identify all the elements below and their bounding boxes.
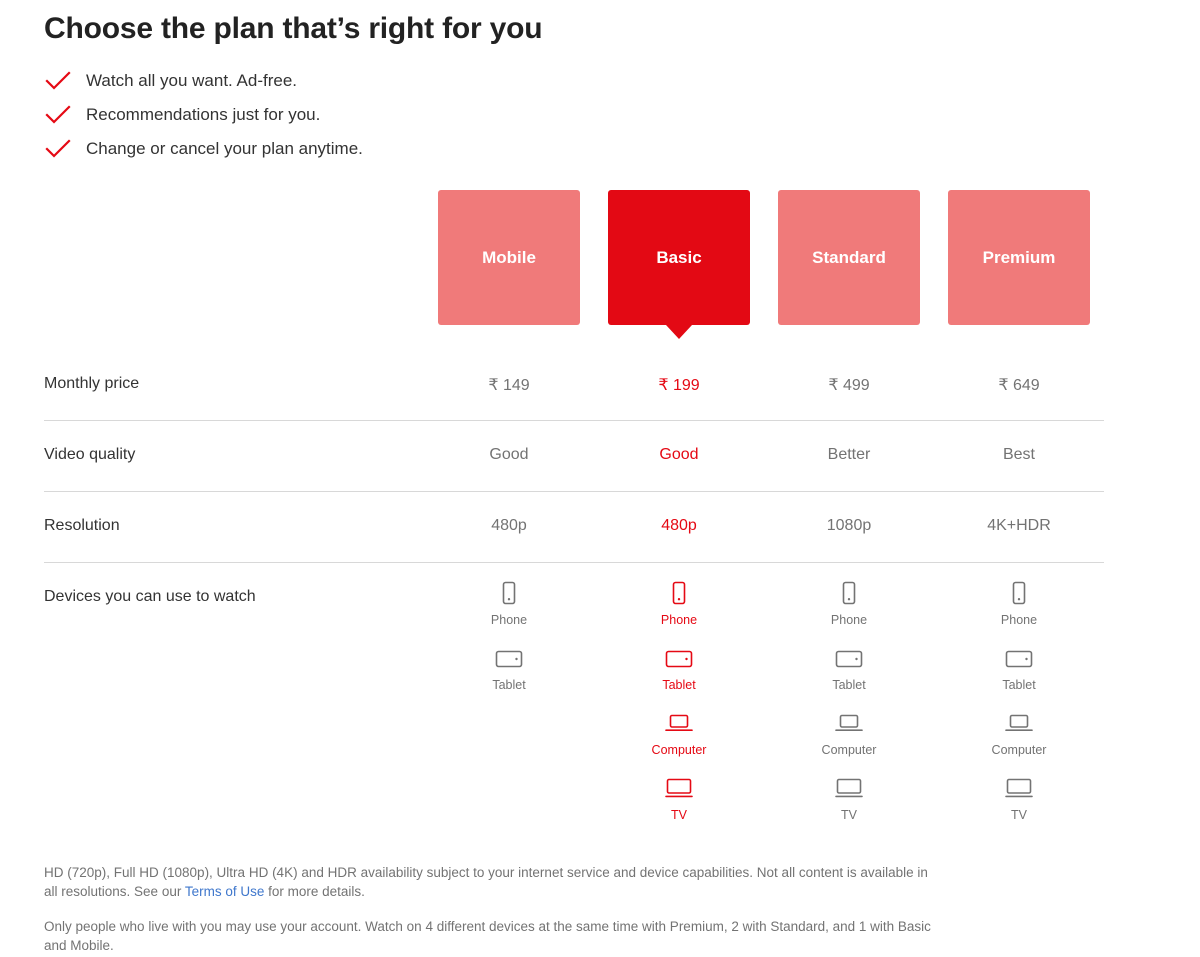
tablet-icon [665, 642, 693, 676]
feature-value-standard: ₹ 499 [764, 350, 934, 395]
plan-card-label: Premium [983, 248, 1056, 268]
feature-value-premium: Best [934, 421, 1104, 464]
feature-value-basic: 480p [594, 492, 764, 535]
device-item-phone: Phone [491, 577, 527, 642]
device-item-phone: Phone [661, 577, 697, 642]
device-label: Tablet [1002, 678, 1035, 692]
feature-label: Video quality [44, 421, 424, 464]
computer-icon [1003, 707, 1035, 741]
check-icon [44, 138, 72, 160]
plan-cards-row: Mobile Basic Standard Premium [44, 190, 1104, 350]
device-label: Phone [661, 613, 697, 627]
benefit-label: Recommendations just for you. [86, 104, 320, 126]
device-item-phone: Phone [831, 577, 867, 642]
device-item-tv: TV [1002, 772, 1036, 837]
device-label: Computer [992, 743, 1047, 757]
device-label: Computer [822, 743, 877, 757]
feature-value-premium: ₹ 649 [934, 350, 1104, 395]
device-label: Phone [1001, 613, 1037, 627]
feature-label: Resolution [44, 492, 424, 535]
feature-row-monthly-price: Monthly price ₹ 149 ₹ 199 ₹ 499 ₹ 649 [44, 350, 1104, 420]
plan-card-premium[interactable]: Premium [948, 190, 1090, 325]
check-icon [44, 70, 72, 92]
device-item-tablet: Tablet [832, 642, 865, 707]
plan-column-standard: Standard [764, 190, 934, 325]
computer-icon [833, 707, 865, 741]
device-item-tablet: Tablet [492, 642, 525, 707]
plan-card-label: Mobile [482, 248, 536, 268]
check-icon [44, 104, 72, 126]
device-label: TV [671, 808, 687, 822]
phone-icon [501, 577, 517, 611]
device-item-tv: TV [662, 772, 696, 837]
feature-row-video-quality: Video quality Good Good Better Best [44, 420, 1104, 491]
device-item-tablet: Tablet [662, 642, 695, 707]
device-label: Tablet [832, 678, 865, 692]
device-label: TV [1011, 808, 1027, 822]
terms-of-use-link[interactable]: Terms of Use [185, 884, 265, 899]
tablet-icon [1005, 642, 1033, 676]
plan-selection-page: Choose the plan that’s right for you Wat… [0, 0, 1200, 957]
tv-icon [832, 772, 866, 806]
footnote-text-before-link: HD (720p), Full HD (1080p), Ultra HD (4K… [44, 865, 928, 899]
feature-row-resolution: Resolution 480p 480p 1080p 4K+HDR [44, 491, 1104, 562]
benefit-item: Recommendations just for you. [44, 98, 1200, 132]
plan-comparison-table: Mobile Basic Standard Premium Mon [44, 190, 1104, 837]
plan-column-mobile: Mobile [424, 190, 594, 325]
device-label: Phone [491, 613, 527, 627]
tablet-icon [835, 642, 863, 676]
plan-column-basic: Basic [594, 190, 764, 325]
feature-value-basic: Good [594, 421, 764, 464]
device-item-computer: Computer [652, 707, 707, 772]
devices-column-premium: Phone Tablet [934, 563, 1104, 837]
benefit-label: Change or cancel your plan anytime. [86, 138, 363, 160]
devices-column-mobile: Phone Tablet [424, 563, 594, 707]
footnote-household: Only people who live with you may use yo… [44, 917, 944, 955]
phone-icon [671, 577, 687, 611]
plan-card-standard[interactable]: Standard [778, 190, 920, 325]
device-item-tv: TV [832, 772, 866, 837]
tv-icon [1002, 772, 1036, 806]
device-label: Tablet [662, 678, 695, 692]
footnote-resolutions: HD (720p), Full HD (1080p), Ultra HD (4K… [44, 863, 944, 901]
benefit-label: Watch all you want. Ad-free. [86, 70, 297, 92]
device-item-computer: Computer [992, 707, 1047, 772]
feature-row-devices: Devices you can use to watch Phone [44, 562, 1104, 837]
devices-column-standard: Phone Tablet [764, 563, 934, 837]
feature-label: Devices you can use to watch [44, 563, 424, 606]
plan-card-mobile[interactable]: Mobile [438, 190, 580, 325]
device-item-tablet: Tablet [1002, 642, 1035, 707]
benefit-item: Watch all you want. Ad-free. [44, 64, 1200, 98]
phone-icon [841, 577, 857, 611]
feature-value-premium: 4K+HDR [934, 492, 1104, 535]
feature-label: Monthly price [44, 350, 424, 393]
plan-card-label: Standard [812, 248, 886, 268]
device-item-phone: Phone [1001, 577, 1037, 642]
devices-column-basic: Phone Tablet [594, 563, 764, 837]
device-label: Phone [831, 613, 867, 627]
plan-card-label: Basic [656, 248, 701, 268]
device-label: Tablet [492, 678, 525, 692]
benefits-list: Watch all you want. Ad-free. Recommendat… [44, 64, 1200, 166]
device-label: Computer [652, 743, 707, 757]
plan-card-basic[interactable]: Basic [608, 190, 750, 325]
page-title: Choose the plan that’s right for you [44, 0, 1200, 48]
feature-value-basic: ₹ 199 [594, 350, 764, 395]
tv-icon [662, 772, 696, 806]
feature-value-standard: 1080p [764, 492, 934, 535]
feature-value-mobile: Good [424, 421, 594, 464]
benefit-item: Change or cancel your plan anytime. [44, 132, 1200, 166]
footnote-text-after-link: for more details. [264, 884, 365, 899]
feature-value-standard: Better [764, 421, 934, 464]
plan-column-premium: Premium [934, 190, 1104, 325]
device-label: TV [841, 808, 857, 822]
feature-value-mobile: ₹ 149 [424, 350, 594, 395]
footnotes: HD (720p), Full HD (1080p), Ultra HD (4K… [44, 863, 944, 955]
phone-icon [1011, 577, 1027, 611]
computer-icon [663, 707, 695, 741]
tablet-icon [495, 642, 523, 676]
device-item-computer: Computer [822, 707, 877, 772]
feature-value-mobile: 480p [424, 492, 594, 535]
